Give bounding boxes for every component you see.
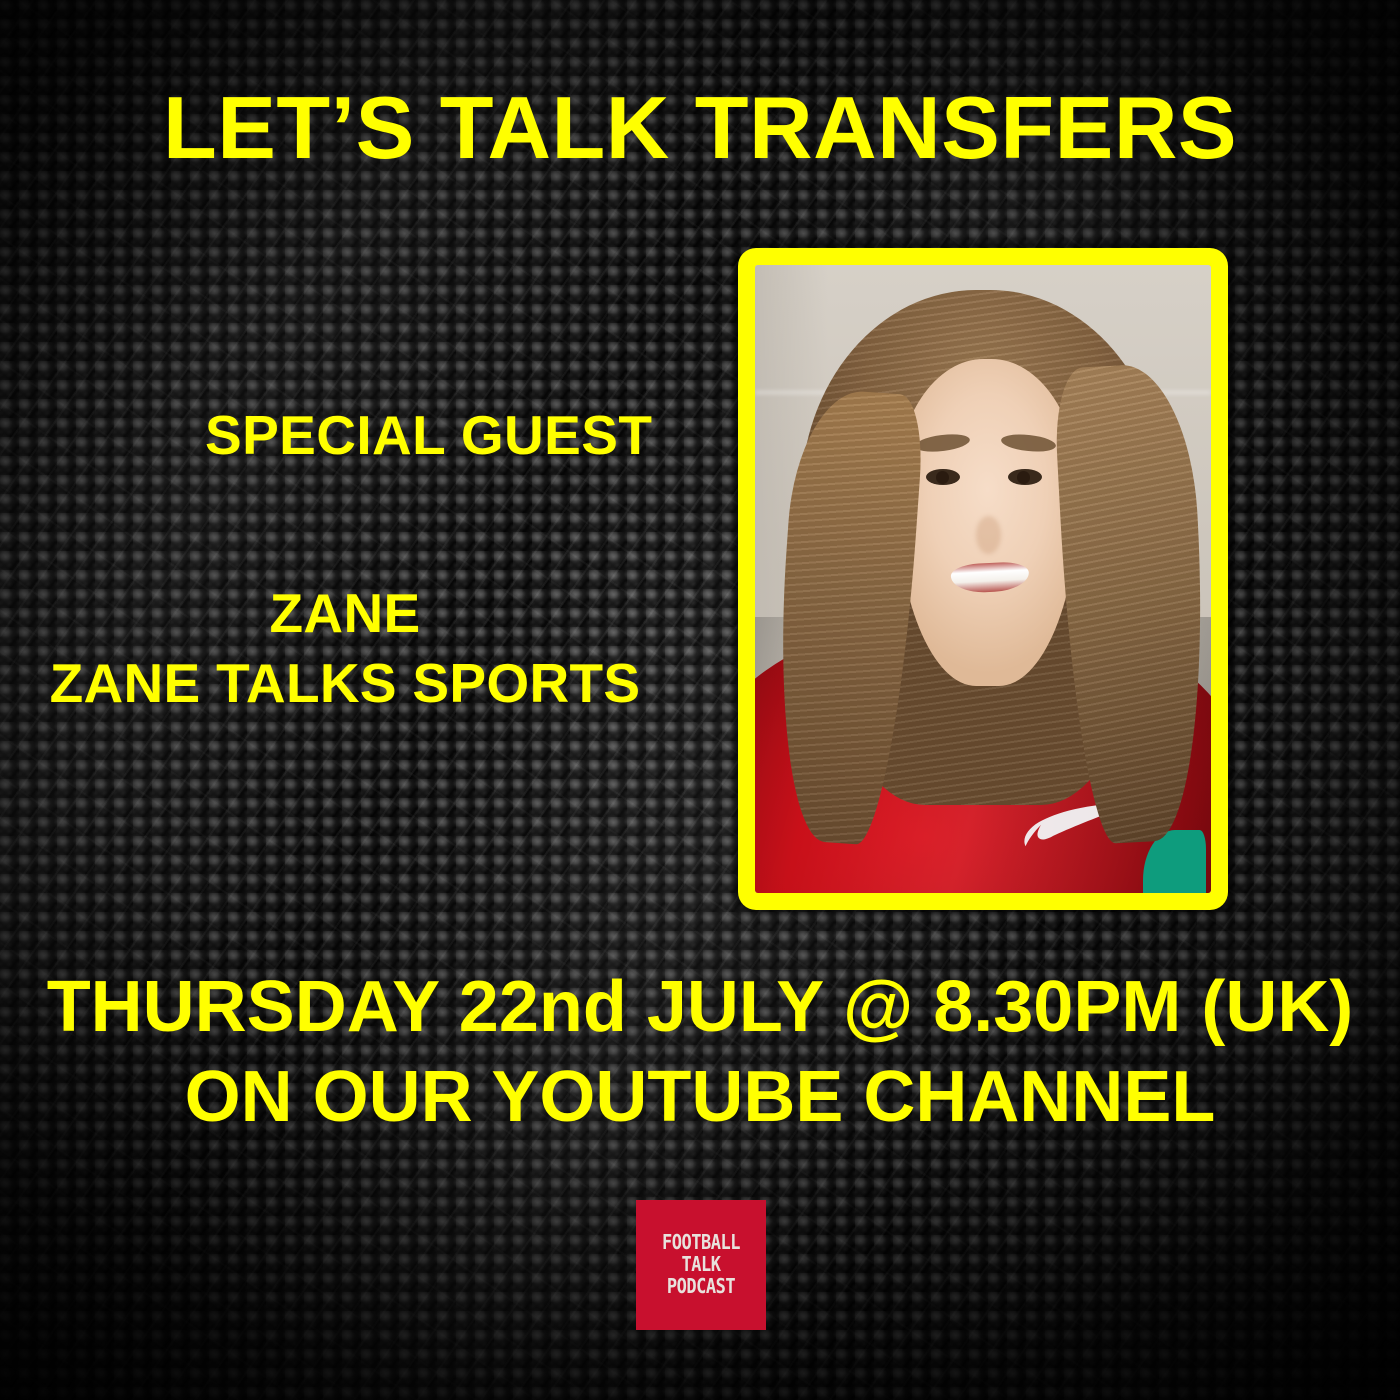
- logo-line-football: FOOTBALL: [662, 1233, 740, 1254]
- guest-channel: ZANE TALKS SPORTS: [0, 648, 690, 718]
- guest-details: ZANE ZANE TALKS SPORTS: [0, 578, 690, 719]
- page-title: LET’S TALK TRANSFERS: [0, 84, 1400, 172]
- podcast-promo-poster: LET’S TALK TRANSFERS SPECIAL GUEST ZANE …: [0, 0, 1400, 1400]
- football-talk-podcast-logo: FOOTBALL TALK PODCAST: [636, 1200, 766, 1330]
- guest-photo: L.F.C.: [755, 265, 1211, 893]
- logo-line-talk: TALK: [682, 1255, 721, 1276]
- logo-line-podcast: PODCAST: [667, 1277, 735, 1298]
- guest-photo-frame: L.F.C.: [738, 248, 1228, 910]
- broadcast-details: THURSDAY 22nd JULY @ 8.30PM (UK) ON OUR …: [0, 962, 1400, 1142]
- broadcast-datetime: THURSDAY 22nd JULY @ 8.30PM (UK): [0, 962, 1400, 1052]
- broadcast-channel: ON OUR YOUTUBE CHANNEL: [0, 1052, 1400, 1142]
- guest-name: ZANE: [0, 578, 690, 648]
- special-guest-label: SPECIAL GUEST: [205, 408, 652, 463]
- photo-nose: [976, 516, 1001, 554]
